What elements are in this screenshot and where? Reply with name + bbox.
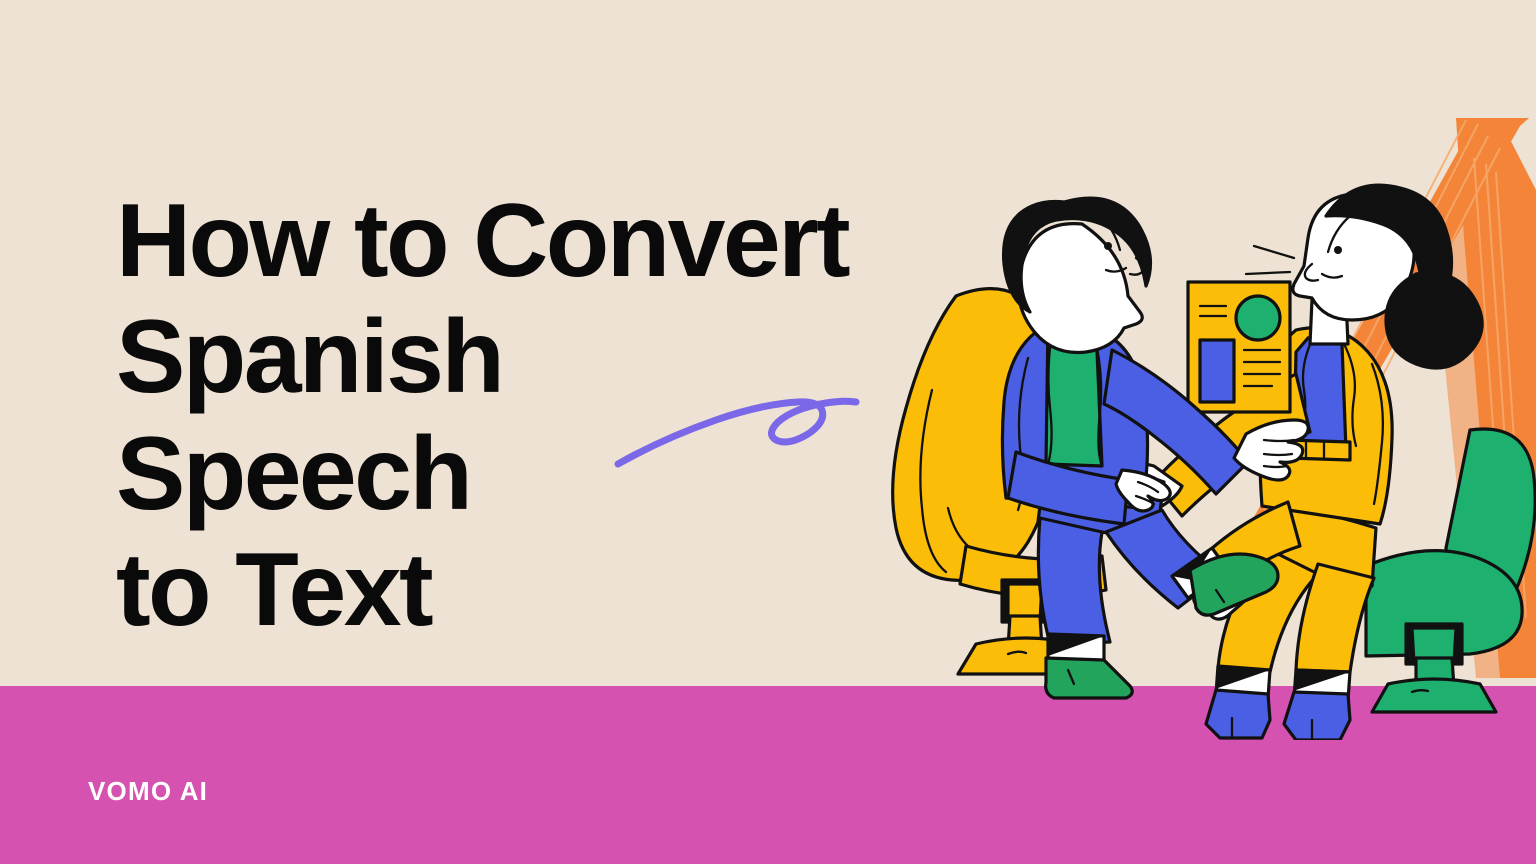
illustration-container: .ink { stroke:#111111; stroke-width:3.2;… <box>860 118 1536 740</box>
page-title: How to Convert Spanish Speech to Text <box>116 183 876 649</box>
report-document <box>1188 282 1290 412</box>
cover-canvas: .ink { stroke:#111111; stroke-width:3.2;… <box>0 0 1536 864</box>
brand-logo-text: VOMO AI <box>88 776 208 807</box>
conversation-illustration-svg: .ink { stroke:#111111; stroke-width:3.2;… <box>860 118 1536 740</box>
